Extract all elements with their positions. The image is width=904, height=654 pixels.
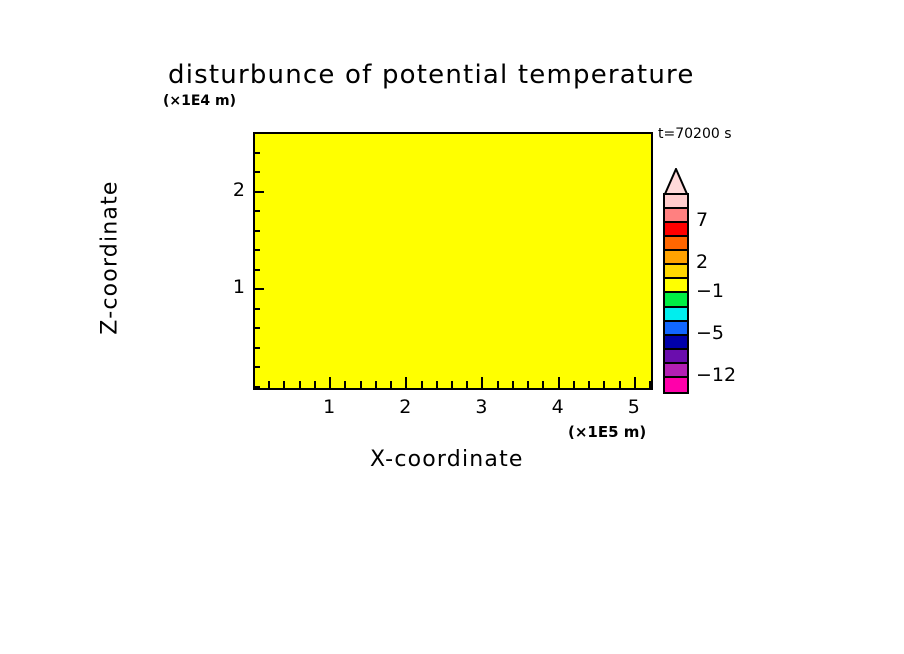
contour-field — [255, 134, 651, 388]
time-annotation: t=70200 s — [658, 126, 732, 142]
y-tick — [253, 269, 260, 271]
x-tick-label: 5 — [619, 396, 649, 418]
x-tick — [619, 381, 621, 388]
y-tick — [253, 171, 260, 173]
y-tick — [253, 191, 264, 193]
x-tick — [603, 381, 605, 388]
colorbar-tick-label: −12 — [696, 364, 736, 386]
x-tick — [634, 377, 636, 388]
x-tick — [542, 381, 544, 388]
x-axis-title: X-coordinate — [370, 447, 524, 472]
y-tick — [253, 288, 264, 290]
colorbar-band — [665, 279, 687, 293]
colorbar-band — [665, 251, 687, 265]
y-tick — [253, 249, 260, 251]
x-tick — [283, 381, 285, 388]
x-axis-units-label: (×1E5 m) — [568, 423, 646, 441]
y-tick-label: 1 — [215, 276, 245, 298]
x-tick-label: 1 — [314, 396, 344, 418]
colorbar-band — [665, 209, 687, 223]
x-tick — [436, 381, 438, 388]
x-tick — [390, 381, 392, 388]
x-tick — [497, 381, 499, 388]
colorbar-band — [665, 364, 687, 378]
x-tick — [466, 381, 468, 388]
x-tick — [375, 381, 377, 388]
y-tick — [253, 308, 260, 310]
x-tick — [481, 377, 483, 388]
y-tick — [253, 230, 260, 232]
colorbar-bands — [663, 193, 689, 394]
colorbar-band — [665, 336, 687, 350]
x-tick — [344, 381, 346, 388]
colorbar-band — [665, 293, 687, 307]
x-tick-label: 3 — [466, 396, 496, 418]
z-axis-units-label: (×1E4 m) — [163, 93, 236, 109]
colorbar-band — [665, 322, 687, 336]
colorbar-band — [665, 237, 687, 251]
colorbar-band — [665, 265, 687, 279]
figure-canvas: disturbunce of potential temperature (×1… — [0, 0, 904, 654]
page-title: disturbunce of potential temperature — [168, 60, 695, 90]
colorbar-tick-label: 7 — [696, 209, 708, 231]
contour-plot-area — [253, 132, 653, 390]
x-tick — [649, 381, 651, 388]
x-tick — [314, 381, 316, 388]
y-tick — [253, 327, 260, 329]
colorbar — [663, 168, 689, 392]
colorbar-band — [665, 308, 687, 322]
x-tick — [299, 381, 301, 388]
x-tick — [527, 381, 529, 388]
y-tick-label: 2 — [215, 179, 245, 201]
x-tick — [360, 381, 362, 388]
y-tick — [253, 347, 260, 349]
y-tick — [253, 132, 260, 134]
x-tick — [558, 377, 560, 388]
x-tick — [573, 381, 575, 388]
colorbar-band — [665, 378, 687, 392]
y-tick — [253, 386, 260, 388]
colorbar-tick-label: −1 — [696, 280, 724, 302]
colorbar-band — [665, 350, 687, 364]
x-tick — [405, 377, 407, 388]
x-tick-label: 2 — [390, 396, 420, 418]
x-tick — [421, 381, 423, 388]
x-tick — [268, 381, 270, 388]
colorbar-arrow-icon — [663, 168, 689, 194]
colorbar-tick-label: −5 — [696, 322, 724, 344]
y-tick — [253, 152, 260, 154]
x-tick — [512, 381, 514, 388]
y-tick — [253, 210, 260, 212]
x-tick — [588, 381, 590, 388]
colorbar-band — [665, 195, 687, 209]
y-tick — [253, 366, 260, 368]
colorbar-tick-label: 2 — [696, 251, 708, 273]
colorbar-band — [665, 223, 687, 237]
x-tick — [329, 377, 331, 388]
y-axis-title: Z-coordinate — [98, 128, 123, 388]
x-tick — [451, 381, 453, 388]
x-tick-label: 4 — [543, 396, 573, 418]
